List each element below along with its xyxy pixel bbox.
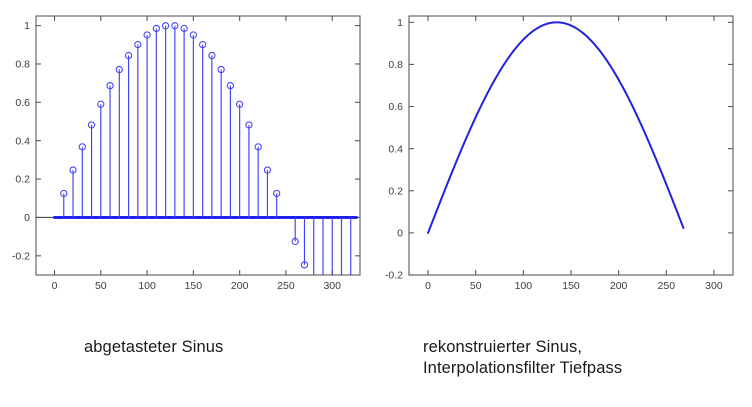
reconstructed-sine-yticklabel: 0.2 bbox=[388, 185, 403, 197]
stem-marker bbox=[311, 285, 317, 291]
sampled-sine-yticklabel: 0.2 bbox=[15, 174, 30, 186]
reconstructed-sine-xticklabel: 250 bbox=[658, 280, 676, 292]
reconstructed-sine-xticklabel: 150 bbox=[562, 280, 580, 292]
caption-reconstructed-sine: rekonstruierter Sinus, Interpolationsfil… bbox=[423, 337, 622, 379]
reconstructed-sine-plot-frame bbox=[409, 16, 733, 275]
sampled-sine-yticklabel: 0.6 bbox=[15, 97, 30, 109]
sampled-sine-plot: 050100150200250300-0.200.20.40.60.81 bbox=[0, 0, 376, 320]
line-series-group bbox=[428, 22, 683, 233]
sampled-sine-xticklabel: 250 bbox=[277, 280, 295, 292]
reconstructed-sine-plot: 050100150200250300-0.200.20.40.60.81 bbox=[376, 0, 752, 320]
chart-panel-sampled-sine: 050100150200250300-0.200.20.40.60.81 bbox=[0, 0, 376, 320]
reconstructed-sine-yticklabel: 0.8 bbox=[388, 59, 403, 71]
reconstructed-sine-yticklabel: 0 bbox=[397, 227, 403, 239]
sampled-sine-yticklabel: 0 bbox=[24, 212, 30, 224]
sampled-sine-xticklabel: 100 bbox=[138, 280, 156, 292]
sampled-sine-xticklabel: 150 bbox=[185, 280, 203, 292]
chart-panel-reconstructed-sine: 050100150200250300-0.200.20.40.60.81 bbox=[376, 0, 752, 320]
reconstructed-sine-xticklabel: 100 bbox=[515, 280, 533, 292]
reconstructed-sine-xticklabel: 200 bbox=[610, 280, 628, 292]
captions-row: abgetasteter Sinus rekonstruierter Sinus… bbox=[0, 320, 752, 407]
sampled-sine-xticklabel: 50 bbox=[95, 280, 107, 292]
sampled-sine-xticklabel: 300 bbox=[323, 280, 341, 292]
sampled-sine-xticklabel: 200 bbox=[231, 280, 249, 292]
reconstructed-sine-xticklabel: 50 bbox=[470, 280, 482, 292]
caption-sampled-sine: abgetasteter Sinus bbox=[84, 337, 223, 358]
sampled-sine-yticklabel: 1 bbox=[24, 20, 30, 32]
zero-sample-marker bbox=[355, 216, 358, 219]
reconstructed-sine-xticklabel: 300 bbox=[705, 280, 723, 292]
reconstructed-sine-curve bbox=[428, 22, 683, 233]
stem-marker bbox=[320, 307, 326, 313]
reconstructed-sine-xticklabel: 0 bbox=[425, 280, 431, 292]
sampled-sine-yticklabel: -0.2 bbox=[12, 250, 30, 262]
reconstructed-sine-yticklabel: -0.2 bbox=[385, 270, 403, 282]
reconstructed-sine-yticklabel: 0.6 bbox=[388, 101, 403, 113]
reconstructed-sine-yticklabel: 0.4 bbox=[388, 143, 403, 155]
figure-container: 050100150200250300-0.200.20.40.60.81 050… bbox=[0, 0, 752, 407]
sampled-sine-yticklabel: 0.4 bbox=[15, 135, 30, 147]
sampled-sine-xticklabel: 0 bbox=[52, 280, 58, 292]
reconstructed-sine-yticklabel: 1 bbox=[397, 17, 403, 29]
sampled-sine-yticklabel: 0.8 bbox=[15, 59, 30, 71]
